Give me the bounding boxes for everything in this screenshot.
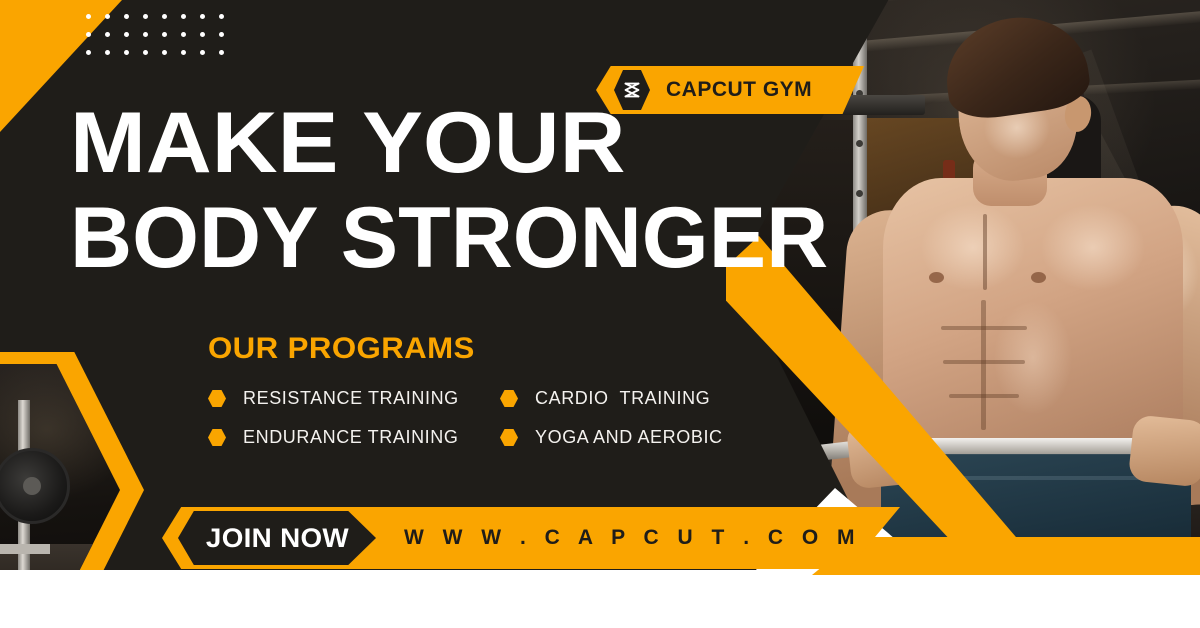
hexagon-bullet-icon [500,390,518,407]
grid-dot [86,14,91,19]
program-item-resistance-training[interactable]: RESISTANCE TRAINING [208,388,500,409]
headline-line-1: MAKE YOUR [70,96,770,191]
grid-dot [105,32,110,37]
hexagon-bullet-icon [500,429,518,446]
grid-dot [162,14,167,19]
program-item-yoga-and-aerobic[interactable]: YOGA AND AEROBIC [500,427,768,448]
grid-dot [181,50,186,55]
white-base-strip [0,570,1200,628]
hexagon-bullet-icon [208,429,226,446]
grid-dot [143,50,148,55]
website-url[interactable]: W W W . C A P C U T . C O M [404,507,861,569]
chest-detail [1031,272,1046,283]
athlete-figure [833,0,1200,580]
programs-section: OUR PROGRAMS RESISTANCE TRAINING CARDIO … [208,332,768,448]
chest-detail [929,272,944,283]
grid-dot [105,50,110,55]
join-now-button[interactable]: JOIN NOW [178,511,376,565]
program-label: RESISTANCE TRAINING [243,388,459,409]
program-item-endurance-training[interactable]: ENDURANCE TRAINING [208,427,500,448]
grid-dot [219,32,224,37]
program-item-cardio-training[interactable]: CARDIO TRAINING [500,388,768,409]
grid-dot [200,50,205,55]
grid-dot [219,14,224,19]
hexagon-bullet-icon [208,390,226,407]
programs-list: RESISTANCE TRAINING CARDIO TRAINING ENDU… [208,388,768,448]
ab-line [949,394,1019,398]
program-label: YOGA AND AEROBIC [535,427,723,448]
grid-dot [86,32,91,37]
ab-line [981,300,986,430]
grid-dot [200,32,205,37]
grid-dot [200,14,205,19]
grid-dot [181,14,186,19]
grid-dot [124,32,129,37]
grid-dot [162,50,167,55]
dot-grid-decoration [86,14,238,68]
grid-dot [162,32,167,37]
inset-rack-base [0,544,50,554]
grid-dot [181,32,186,37]
grid-dot [143,14,148,19]
grid-dot [124,14,129,19]
programs-heading: OUR PROGRAMS [208,332,790,366]
page-title: MAKE YOUR BODY STRONGER [70,96,730,286]
program-label: CARDIO TRAINING [535,388,710,409]
ab-line [941,326,1027,330]
pec-split-line [983,214,987,290]
program-label: ENDURANCE TRAINING [243,427,459,448]
gym-promo-banner: CAPCUT GYM MAKE YOUR BODY STRONGER OUR P… [0,0,1200,628]
join-now-label: JOIN NOW [205,523,348,554]
headline-line-2: BODY STRONGER [70,191,730,286]
grid-dot [105,14,110,19]
ab-line [943,360,1025,364]
athlete-right-hand [1128,414,1200,487]
grid-dot [143,32,148,37]
grid-dot [124,50,129,55]
grid-dot [219,50,224,55]
grid-dot [86,50,91,55]
